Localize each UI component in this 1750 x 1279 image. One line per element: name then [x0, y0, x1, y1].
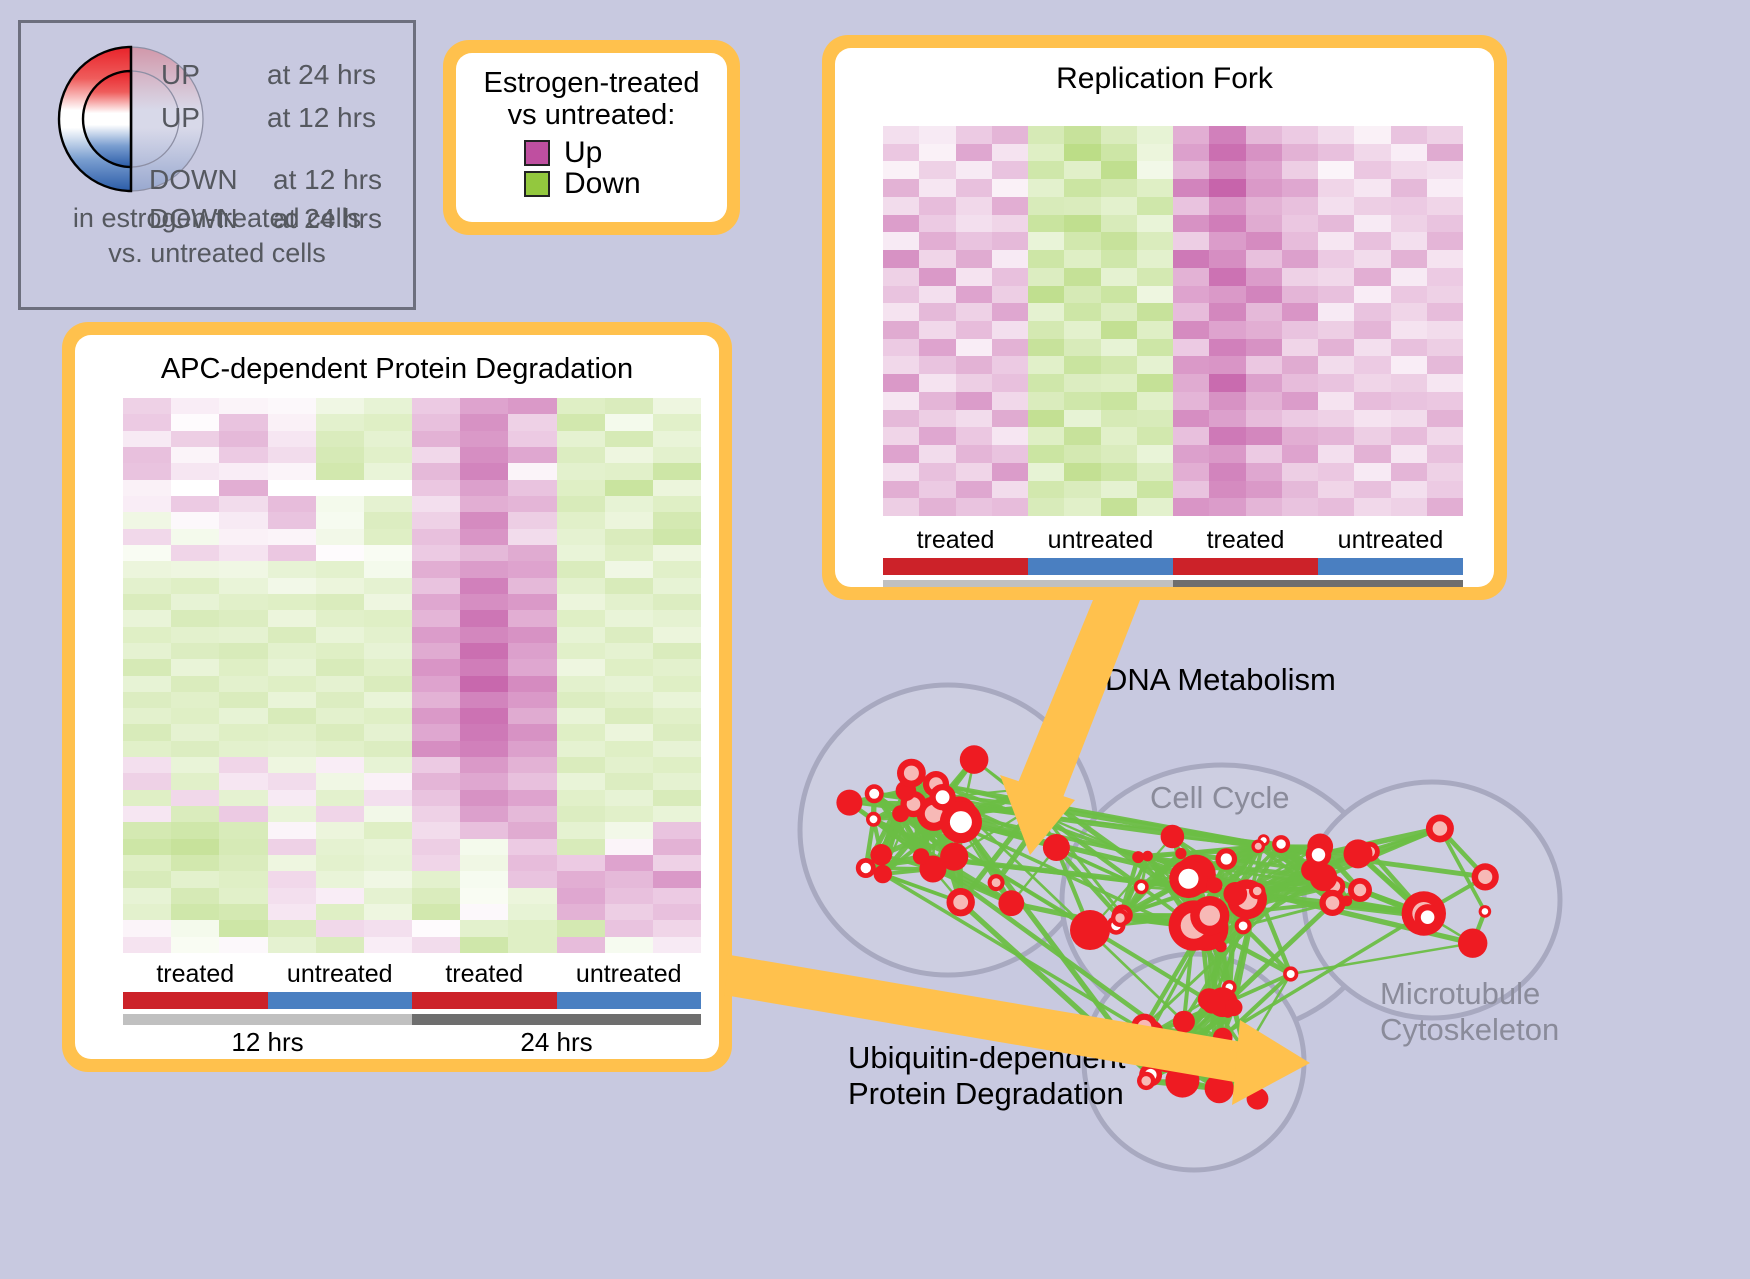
- heatmap-cell: [268, 741, 316, 757]
- bar-untreated-12: [268, 992, 413, 1009]
- heatmap-cell: [316, 790, 364, 806]
- heatmap-cell: [460, 773, 508, 789]
- heatmap-cell: [919, 232, 955, 250]
- heatmap-cell: [364, 594, 412, 610]
- heatmap-cell: [1318, 445, 1354, 463]
- heatmap-cell: [557, 643, 605, 659]
- heatmap-cell: [316, 643, 364, 659]
- heatmap-cell: [508, 724, 556, 740]
- heatmap-cell: [956, 303, 992, 321]
- heatmap-cell: [919, 179, 955, 197]
- legend-title-line1: Estrogen-treated: [466, 67, 717, 99]
- heatmap-cell: [316, 529, 364, 545]
- network-node-core: [1433, 821, 1448, 836]
- heatmap-cell: [1246, 356, 1282, 374]
- key-row-down12-label: DOWN: [149, 164, 238, 196]
- heatmap-cell: [460, 398, 508, 414]
- heatmap-cell: [992, 392, 1028, 410]
- color-key-box: UP at 24 hrs UP at 12 hrs DOWN at 12 hrs…: [18, 20, 416, 310]
- heatmap-cell: [883, 303, 919, 321]
- heatmap-cell: [508, 937, 556, 953]
- network-node[interactable]: [1132, 851, 1144, 863]
- heatmap-cell: [883, 463, 919, 481]
- heatmap-cell: [1137, 374, 1173, 392]
- heatmap-cell: [1137, 161, 1173, 179]
- heatmap-cell: [653, 773, 701, 789]
- heatmap-cell: [1209, 197, 1245, 215]
- network-node[interactable]: [1134, 880, 1149, 895]
- network-node[interactable]: [1216, 848, 1238, 870]
- network-node[interactable]: [1111, 909, 1129, 927]
- heatmap-cell: [1282, 321, 1318, 339]
- heatmap-cell: [123, 529, 171, 545]
- heatmap-cell: [316, 627, 364, 643]
- heatmap-cell: [508, 822, 556, 838]
- heatmap-cell: [1064, 481, 1100, 499]
- network-node[interactable]: [1235, 917, 1252, 934]
- network-node-core: [1239, 922, 1248, 931]
- heatmap-cell: [364, 529, 412, 545]
- heatmap-cell: [123, 757, 171, 773]
- heatmap-cell: [1064, 268, 1100, 286]
- heatmap-cell: [508, 676, 556, 692]
- heatmap-cell: [1209, 392, 1245, 410]
- heatmap-cell: [1028, 339, 1064, 357]
- heatmap-cell: [992, 356, 1028, 374]
- heatmap-cell: [123, 692, 171, 708]
- heatmap-cell: [605, 888, 653, 904]
- heatmap-cell: [412, 855, 460, 871]
- network-node[interactable]: [1306, 842, 1332, 868]
- heatmap-cell: [605, 822, 653, 838]
- heatmap-cell: [1318, 321, 1354, 339]
- heatmap-cell: [1064, 410, 1100, 428]
- heatmap-cell: [1391, 392, 1427, 410]
- heatmap-cell: [123, 708, 171, 724]
- heatmap-cell: [1064, 303, 1100, 321]
- network-node[interactable]: [988, 874, 1005, 891]
- heatmap-cell: [123, 431, 171, 447]
- heatmap-cell: [557, 545, 605, 561]
- heatmap-cell: [605, 757, 653, 773]
- heatmap-cell: [1101, 321, 1137, 339]
- network-node[interactable]: [1415, 904, 1441, 930]
- heatmap-cell: [1282, 268, 1318, 286]
- heatmap-cell: [219, 594, 267, 610]
- heatmap-cell: [412, 578, 460, 594]
- heatmap-cell: [364, 496, 412, 512]
- heatmap-cell: [1209, 498, 1245, 516]
- heatmap-cell: [557, 676, 605, 692]
- network-node[interactable]: [1247, 1088, 1269, 1110]
- network-node[interactable]: [892, 805, 909, 822]
- heatmap-cell: [1028, 392, 1064, 410]
- heatmap-cell: [1354, 232, 1390, 250]
- network-node[interactable]: [1235, 1041, 1256, 1062]
- heatmap-cell: [653, 447, 701, 463]
- heatmap-cell: [919, 498, 955, 516]
- heatmap-cell: [1246, 339, 1282, 357]
- network-node-core: [1326, 896, 1340, 910]
- heatmap-cell: [268, 676, 316, 692]
- heatmap-cell: [883, 126, 919, 144]
- heatmap-cell: [1028, 250, 1064, 268]
- heatmap-cell: [1427, 179, 1463, 197]
- heatmap-cell: [364, 937, 412, 953]
- network-node-core: [1138, 1020, 1152, 1034]
- heatmap-cell: [460, 627, 508, 643]
- heatmap-cell: [268, 414, 316, 430]
- heatmap-cell: [1028, 215, 1064, 233]
- network-node[interactable]: [1161, 825, 1185, 849]
- heatmap-cell: [171, 480, 219, 496]
- heatmap-cell: [364, 431, 412, 447]
- heatmap-cell: [316, 447, 364, 463]
- heatmap-cell: [316, 463, 364, 479]
- legend-title: Estrogen-treated vs untreated:: [466, 67, 717, 132]
- heatmap-cell: [123, 806, 171, 822]
- heatmap-cell: [268, 937, 316, 953]
- heatmap-cell: [1028, 374, 1064, 392]
- heatmap-cell: [1391, 410, 1427, 428]
- heatmap-cell: [364, 627, 412, 643]
- heatmap-cell: [1391, 126, 1427, 144]
- heatmap-cell: [508, 414, 556, 430]
- heatmap-cell: [316, 414, 364, 430]
- network-node[interactable]: [1319, 890, 1345, 916]
- network-node[interactable]: [1215, 941, 1226, 952]
- heatmap-cell: [883, 161, 919, 179]
- network-node[interactable]: [1251, 840, 1265, 854]
- heatmap-cell: [1064, 445, 1100, 463]
- bar-time-24: [1173, 580, 1463, 587]
- heatmap-cell: [919, 410, 955, 428]
- heatmap-cell: [1282, 250, 1318, 268]
- heatmap-cell: [1173, 144, 1209, 162]
- heatmap-cell: [1101, 410, 1137, 428]
- heatmap-cell: [171, 822, 219, 838]
- heatmap-cell: [653, 512, 701, 528]
- heatmap-cell: [1391, 232, 1427, 250]
- heatmap-cell: [956, 339, 992, 357]
- heatmap-cell: [1246, 303, 1282, 321]
- network-node[interactable]: [1472, 863, 1499, 890]
- heatmap-cell: [316, 822, 364, 838]
- heatmap-cell: [1064, 232, 1100, 250]
- heatmap-cell: [557, 839, 605, 855]
- heatmap-cell: [956, 232, 992, 250]
- heatmap-cell: [1064, 498, 1100, 516]
- heatmap-cell: [1137, 286, 1173, 304]
- heatmap-cell: [605, 676, 653, 692]
- heatmap-cell: [883, 481, 919, 499]
- network-node-core: [1421, 910, 1435, 924]
- network-node[interactable]: [1175, 848, 1186, 859]
- heatmap-cell: [919, 126, 955, 144]
- heatmap-cell: [1137, 410, 1173, 428]
- heatmap-cell: [1354, 215, 1390, 233]
- network-node[interactable]: [1283, 966, 1298, 981]
- legend-label-up: Up: [564, 138, 602, 168]
- network-node[interactable]: [1207, 877, 1223, 893]
- heatmap-cell: [460, 937, 508, 953]
- legend-swatch-up: [524, 140, 550, 166]
- network-node[interactable]: [1225, 999, 1242, 1016]
- heatmap-cell: [508, 627, 556, 643]
- heatmap-cell: [1427, 268, 1463, 286]
- heatmap-cell: [460, 561, 508, 577]
- heatmap-cell: [1391, 215, 1427, 233]
- heatmap-cell: [1391, 197, 1427, 215]
- network-node[interactable]: [1223, 882, 1247, 906]
- heatmap-cell: [316, 480, 364, 496]
- network-node-core: [1482, 908, 1489, 915]
- apc-degradation-title: APC-dependent Protein Degradation: [75, 353, 719, 386]
- network-node[interactable]: [1348, 878, 1372, 902]
- heatmap-cell: [316, 496, 364, 512]
- heatmap-cell: [605, 904, 653, 920]
- heatmap-cell: [316, 920, 364, 936]
- network-node-core: [1038, 810, 1049, 821]
- network-node[interactable]: [1028, 799, 1043, 814]
- heatmap-cell: [919, 374, 955, 392]
- heatmap-cell: [316, 692, 364, 708]
- heatmap-cell: [1246, 374, 1282, 392]
- heatmap-cell: [557, 578, 605, 594]
- heatmap-cell: [364, 480, 412, 496]
- heatmap-cell: [364, 463, 412, 479]
- heatmap-cell: [919, 321, 955, 339]
- network-node[interactable]: [947, 888, 975, 916]
- heatmap-cell: [1173, 232, 1209, 250]
- heatmap-cell: [1427, 126, 1463, 144]
- heatmap-cell: [1101, 481, 1137, 499]
- heatmap-cell: [1173, 463, 1209, 481]
- network-node[interactable]: [865, 784, 884, 803]
- network-node[interactable]: [1190, 896, 1229, 935]
- network-node[interactable]: [1479, 905, 1492, 918]
- heatmap-cell: [653, 790, 701, 806]
- network-node[interactable]: [1173, 1011, 1195, 1033]
- heatmap-cell: [171, 512, 219, 528]
- network-node-core: [904, 766, 919, 781]
- network-node[interactable]: [1070, 910, 1110, 950]
- bar-time-24: [412, 1014, 701, 1025]
- heatmap-cell: [268, 806, 316, 822]
- network-node[interactable]: [1249, 883, 1265, 899]
- heatmap-cell: [956, 286, 992, 304]
- heatmap-cell: [653, 871, 701, 887]
- heatmap-cell: [508, 790, 556, 806]
- network-node[interactable]: [836, 790, 862, 816]
- heatmap-cell: [1064, 197, 1100, 215]
- heatmap-cell: [1137, 268, 1173, 286]
- network-node[interactable]: [1458, 929, 1487, 958]
- network-node[interactable]: [897, 759, 926, 788]
- heatmap-cell: [219, 822, 267, 838]
- network-node[interactable]: [1043, 834, 1070, 861]
- heatmap-cell: [316, 888, 364, 904]
- heatmap-cell: [171, 627, 219, 643]
- network-node[interactable]: [998, 890, 1024, 916]
- heatmap-cell: [1354, 463, 1390, 481]
- heatmap-cell: [557, 822, 605, 838]
- legend-label-down: Down: [564, 169, 641, 199]
- heatmap-cell: [123, 496, 171, 512]
- heatmap-cell: [412, 627, 460, 643]
- heatmap-cell: [460, 447, 508, 463]
- heatmap-cell: [1282, 232, 1318, 250]
- heatmap-cell: [364, 414, 412, 430]
- heatmap-cell: [1246, 144, 1282, 162]
- heatmap-cell: [1028, 197, 1064, 215]
- legend-title-line2: vs untreated:: [466, 99, 717, 131]
- heatmap-cell: [1282, 339, 1318, 357]
- heatmap-cell: [219, 447, 267, 463]
- heatmap-cell: [460, 578, 508, 594]
- heatmap-cell: [992, 250, 1028, 268]
- heatmap-cell: [956, 410, 992, 428]
- network-node[interactable]: [960, 745, 989, 774]
- heatmap-cell: [364, 610, 412, 626]
- heatmap-cell: [508, 708, 556, 724]
- heatmap-cell: [508, 610, 556, 626]
- heatmap-cell: [268, 398, 316, 414]
- heatmap-cell: [1354, 321, 1390, 339]
- heatmap-cell: [1391, 356, 1427, 374]
- heatmap-cell: [171, 529, 219, 545]
- heatmap-cell: [1064, 463, 1100, 481]
- heatmap-cell: [171, 610, 219, 626]
- heatmap-cell: [919, 303, 955, 321]
- network-node[interactable]: [1272, 835, 1290, 853]
- heatmap-cell: [1101, 356, 1137, 374]
- heatmap-cell: [1354, 498, 1390, 516]
- network-node-core: [1354, 884, 1366, 896]
- network-node[interactable]: [1205, 1074, 1234, 1103]
- heatmap-cell: [412, 610, 460, 626]
- key-row-up24-time: at 24 hrs: [267, 59, 376, 91]
- heatmap-cell: [883, 392, 919, 410]
- network-node[interactable]: [1137, 1072, 1155, 1090]
- heatmap-cell: [1101, 427, 1137, 445]
- heatmap-cell: [1064, 427, 1100, 445]
- heatmap-cell: [171, 790, 219, 806]
- network-node[interactable]: [1344, 839, 1373, 868]
- network-node-core: [1253, 887, 1262, 896]
- heatmap-cell: [992, 215, 1028, 233]
- heatmap-cell: [1354, 197, 1390, 215]
- heatmap-cell: [412, 643, 460, 659]
- heatmap-cell: [1427, 356, 1463, 374]
- heatmap-cell: [460, 888, 508, 904]
- bar-untreated-12: [1028, 558, 1173, 575]
- network-node[interactable]: [1018, 774, 1046, 802]
- heatmap-cell: [460, 741, 508, 757]
- heatmap-cell: [1318, 286, 1354, 304]
- sample-label-untreated-12: untreated: [268, 960, 413, 989]
- heatmap-cell: [557, 496, 605, 512]
- network-node[interactable]: [866, 812, 881, 827]
- heatmap-cell: [364, 724, 412, 740]
- network-node[interactable]: [913, 848, 930, 865]
- heatmap-cell: [605, 659, 653, 675]
- heatmap-cell: [1391, 161, 1427, 179]
- heatmap-cell: [653, 594, 701, 610]
- network-node[interactable]: [1426, 815, 1454, 843]
- heatmap-cell: [1282, 498, 1318, 516]
- heatmap-cell: [1282, 215, 1318, 233]
- network-node[interactable]: [856, 858, 876, 878]
- heatmap-cell: [956, 481, 992, 499]
- network-node[interactable]: [1153, 1044, 1181, 1072]
- heatmap-cell: [460, 496, 508, 512]
- heatmap-cell: [1028, 161, 1064, 179]
- heatmap-cell: [268, 431, 316, 447]
- network-node[interactable]: [940, 843, 968, 871]
- heatmap-cell: [653, 529, 701, 545]
- network-node[interactable]: [929, 784, 955, 810]
- network-node[interactable]: [1169, 860, 1208, 899]
- heatmap-cell: [605, 447, 653, 463]
- network-node[interactable]: [1131, 1014, 1157, 1040]
- heatmap-cell: [557, 741, 605, 757]
- network-node[interactable]: [1310, 864, 1338, 892]
- heatmap-cell: [123, 839, 171, 855]
- heatmap-cell: [268, 724, 316, 740]
- heatmap-cell: [123, 822, 171, 838]
- heatmap-cell: [1173, 286, 1209, 304]
- heatmap-cell: [1391, 250, 1427, 268]
- heatmap-cell: [1354, 392, 1390, 410]
- heatmap-cell: [605, 871, 653, 887]
- heatmap-cell: [412, 659, 460, 675]
- heatmap-cell: [460, 855, 508, 871]
- heatmap-cell: [605, 463, 653, 479]
- heatmap-cell: [1101, 286, 1137, 304]
- heatmap-cell: [171, 463, 219, 479]
- heatmap-cell: [412, 496, 460, 512]
- heatmap-cell: [412, 431, 460, 447]
- heatmap-cell: [412, 937, 460, 953]
- heatmap-cell: [1064, 374, 1100, 392]
- network-node[interactable]: [874, 865, 892, 883]
- heatmap-cell: [460, 822, 508, 838]
- heatmap-cell: [412, 692, 460, 708]
- heatmap-cell: [605, 512, 653, 528]
- heatmap-cell: [268, 480, 316, 496]
- heatmap-cell: [1028, 303, 1064, 321]
- sample-label-treated-24: treated: [1173, 526, 1318, 555]
- heatmap-cell: [219, 414, 267, 430]
- heatmap-cell: [1064, 250, 1100, 268]
- heatmap-cell: [412, 529, 460, 545]
- heatmap-cell: [557, 594, 605, 610]
- heatmap-cell: [1137, 144, 1173, 162]
- network-node[interactable]: [1213, 1028, 1233, 1048]
- heatmap-cell: [1173, 356, 1209, 374]
- color-key-footer-line1: in estrogen-treated cells: [21, 201, 413, 236]
- heatmap-cell: [123, 888, 171, 904]
- heatmap-cell: [1101, 303, 1137, 321]
- bar-treated-12: [883, 558, 1028, 575]
- heatmap-cell: [1137, 356, 1173, 374]
- heatmap-cell: [123, 414, 171, 430]
- heatmap-cell: [364, 888, 412, 904]
- heatmap-cell: [1101, 126, 1137, 144]
- heatmap-cell: [508, 578, 556, 594]
- heatmap-cell: [171, 806, 219, 822]
